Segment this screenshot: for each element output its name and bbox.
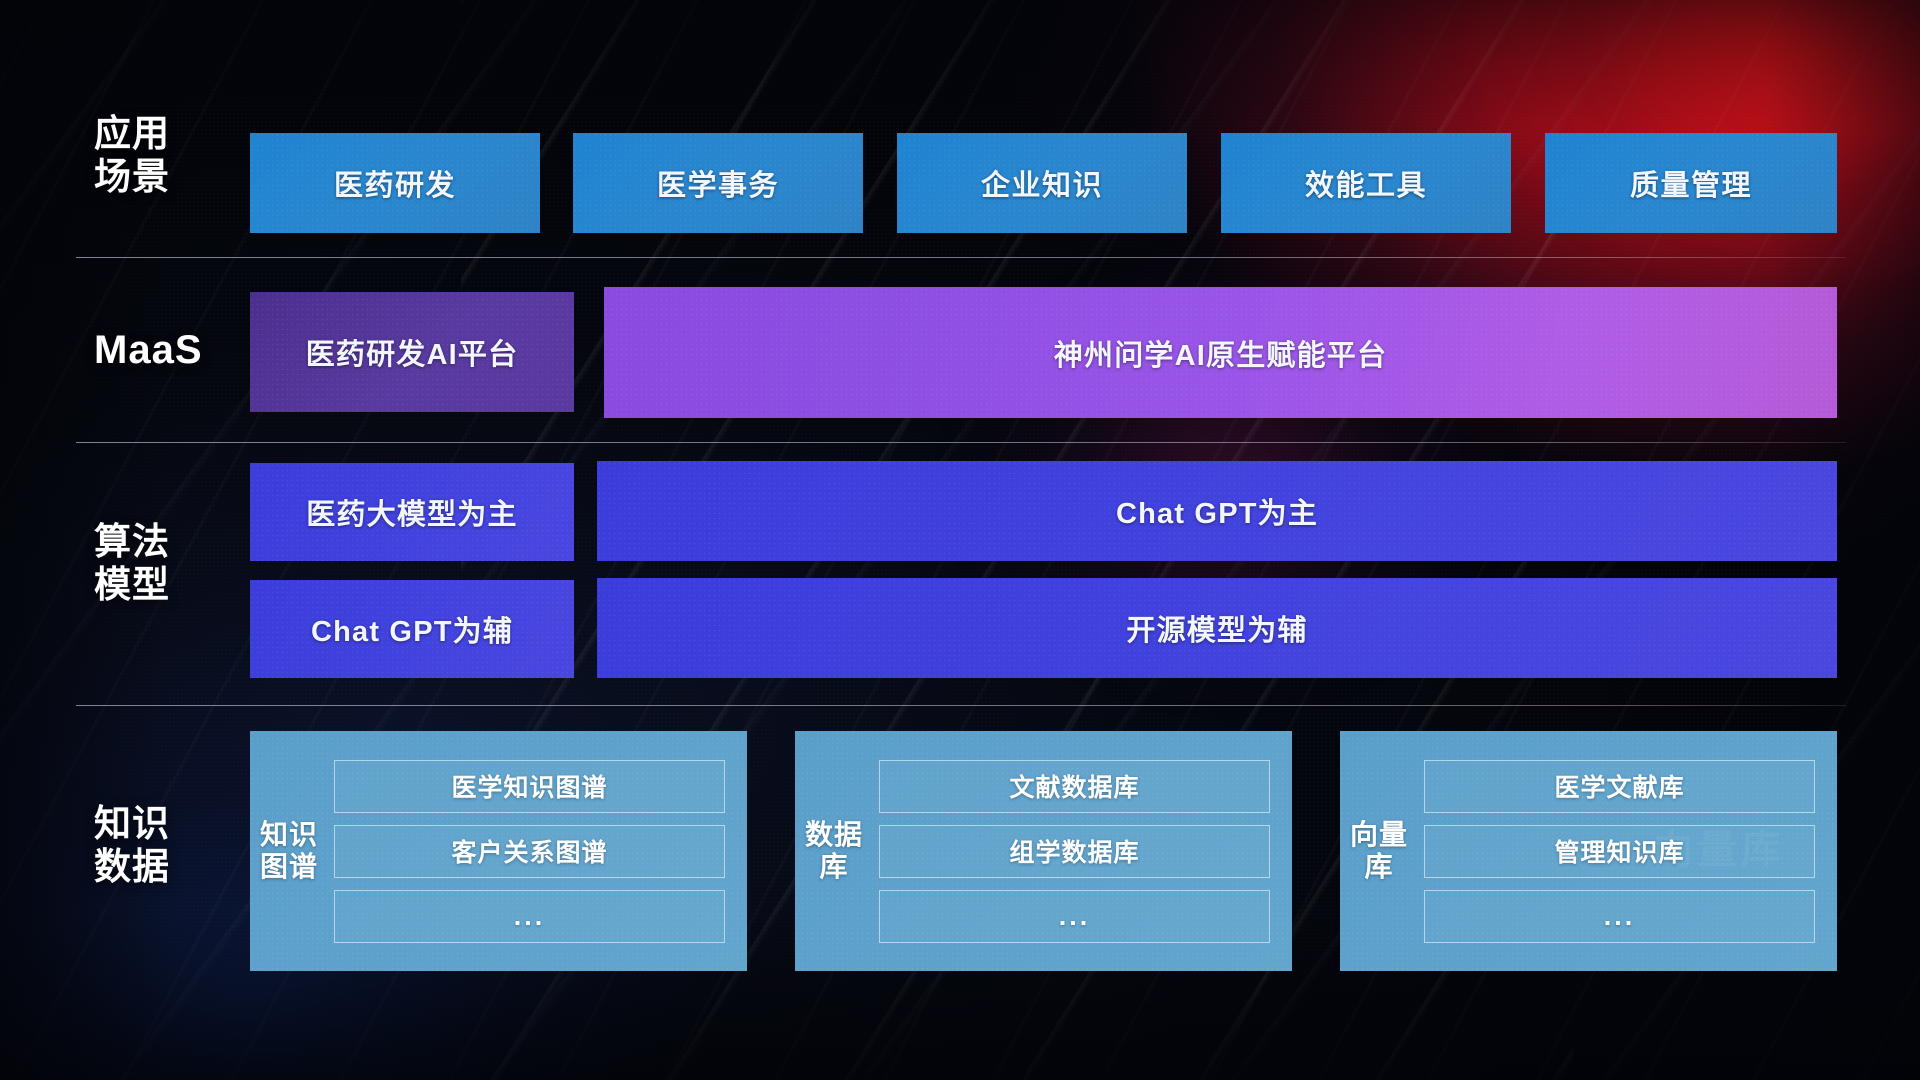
row-separator-3	[76, 705, 1846, 706]
app-scenario-card-1[interactable]: 医药研发	[250, 133, 540, 233]
row-separator-1	[76, 257, 1846, 258]
algorithm-card-left-secondary[interactable]: Chat GPT为辅	[250, 580, 574, 678]
knowledge-item[interactable]: 客户关系图谱	[334, 825, 725, 878]
row-label-line: 知识	[94, 803, 254, 846]
app-scenario-label: 医药研发	[334, 162, 456, 204]
knowledge-item[interactable]: 医学知识图谱	[334, 760, 725, 813]
algorithm-card-left-primary[interactable]: 医药大模型为主	[250, 463, 574, 561]
row-label-application-scenarios: 应用 场景	[94, 113, 254, 199]
algorithm-card-label: Chat GPT为辅	[311, 608, 513, 650]
knowledge-item[interactable]: 医学文献库	[1424, 760, 1815, 813]
row-label-algorithm-model: 算法 模型	[94, 521, 254, 607]
app-scenario-label: 质量管理	[1630, 162, 1752, 204]
row-label-knowledge-data: 知识 数据	[94, 803, 254, 889]
row-label-line: 场景	[94, 156, 254, 199]
row-label-line: 算法	[94, 521, 254, 564]
knowledge-panel-database[interactable]: 数据库 文献数据库 组学数据库 ...	[795, 731, 1292, 971]
app-scenario-card-4[interactable]: 效能工具	[1221, 133, 1511, 233]
app-scenario-label: 效能工具	[1305, 162, 1427, 204]
knowledge-item[interactable]: 管理知识库	[1424, 825, 1815, 878]
app-scenario-card-2[interactable]: 医学事务	[573, 133, 863, 233]
row-label-maas: MaaS	[94, 327, 254, 373]
algorithm-card-label: Chat GPT为主	[1116, 490, 1318, 532]
row-label-line: 模型	[94, 564, 254, 607]
maas-card-label: 神州问学AI原生赋能平台	[1054, 332, 1387, 374]
app-scenario-label: 医学事务	[657, 162, 779, 204]
knowledge-panel-knowledge-graph[interactable]: 知识图谱 医学知识图谱 客户关系图谱 ...	[250, 731, 747, 971]
knowledge-panel-item-list: 医学文献库 管理知识库 ...	[1418, 731, 1837, 971]
knowledge-panel-item-list: 文献数据库 组学数据库 ...	[873, 731, 1292, 971]
maas-card-shenzhou-wenxue-platform[interactable]: 神州问学AI原生赋能平台	[604, 287, 1837, 418]
knowledge-item[interactable]: 组学数据库	[879, 825, 1270, 878]
architecture-diagram: 应用 场景 医药研发 医学事务 企业知识 效能工具 质量管理 MaaS 医药研发…	[0, 0, 1920, 1080]
app-scenario-card-5[interactable]: 质量管理	[1545, 133, 1837, 233]
algorithm-card-label: 医药大模型为主	[306, 491, 517, 533]
app-scenario-label: 企业知识	[981, 162, 1103, 204]
row-label-line: 数据	[94, 846, 254, 889]
algorithm-card-right-secondary[interactable]: 开源模型为辅	[597, 578, 1837, 678]
algorithm-card-right-primary[interactable]: Chat GPT为主	[597, 461, 1837, 561]
knowledge-panel-vertical-label: 数据库	[795, 731, 873, 971]
knowledge-panel-item-list: 医学知识图谱 客户关系图谱 ...	[328, 731, 747, 971]
knowledge-item-more[interactable]: ...	[879, 890, 1270, 943]
knowledge-item[interactable]: 文献数据库	[879, 760, 1270, 813]
knowledge-panel-vertical-label: 知识图谱	[250, 731, 328, 971]
knowledge-item-more[interactable]: ...	[1424, 890, 1815, 943]
maas-card-pharma-ai-platform[interactable]: 医药研发AI平台	[250, 292, 574, 412]
knowledge-panel-vector-store[interactable]: 向量库 医学文献库 管理知识库 ... 向量库	[1340, 731, 1837, 971]
row-label-line: MaaS	[94, 327, 254, 373]
algorithm-card-label: 开源模型为辅	[1126, 607, 1307, 649]
app-scenario-card-3[interactable]: 企业知识	[897, 133, 1187, 233]
row-label-line: 应用	[94, 113, 254, 156]
knowledge-panel-vertical-label: 向量库	[1340, 731, 1418, 971]
row-separator-2	[76, 442, 1846, 443]
knowledge-item-more[interactable]: ...	[334, 890, 725, 943]
maas-card-label: 医药研发AI平台	[306, 331, 519, 373]
